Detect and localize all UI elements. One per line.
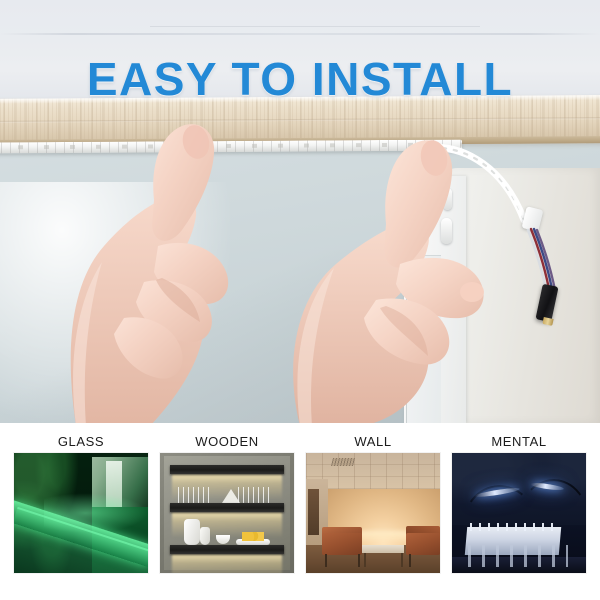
wall-table-leg-left [364, 553, 366, 567]
surface-card-wooden[interactable]: WOODEN [160, 431, 294, 600]
wall-sofa-leg-b [358, 554, 360, 567]
ceiling-seam-secondary [150, 26, 480, 27]
wall-table-leg-right [401, 553, 403, 567]
surfaces-section: GLASS WOODEN [0, 423, 600, 600]
wooden-shelf-glow-3 [172, 554, 282, 573]
wall-sofa-leg-a [325, 554, 327, 567]
surface-card-glass[interactable]: GLASS [14, 431, 148, 600]
wall-coffee-table [362, 545, 404, 553]
surface-label-glass: GLASS [14, 431, 148, 453]
surface-card-mental[interactable]: MENTAL [452, 431, 586, 600]
mental-chairs [468, 545, 568, 567]
hero-photo: EASY TO INSTALL [0, 0, 600, 423]
surface-thumb-glass[interactable] [14, 453, 148, 573]
mental-table-settings [470, 523, 558, 531]
wooden-glassware-right [238, 487, 270, 503]
surface-card-wall[interactable]: WALL [306, 431, 440, 600]
wooden-pitcher [200, 527, 210, 545]
ceiling-seam [0, 33, 600, 35]
surface-thumb-wooden[interactable] [160, 453, 294, 573]
right-hand [240, 100, 490, 423]
surface-label-mental: MENTAL [452, 431, 586, 453]
left-hand [58, 96, 268, 423]
wooden-shelf-1 [170, 465, 284, 474]
glass-green-glow [44, 493, 148, 533]
product-marketing-image: EASY TO INSTALL GLASS WOODEN [0, 0, 600, 600]
wooden-teapot [184, 519, 200, 545]
wooden-shelf-2 [170, 503, 284, 512]
surface-label-wall: WALL [306, 431, 440, 453]
wall-sofa-right [406, 533, 440, 555]
wall-ceiling-vent [331, 458, 355, 466]
wall-doorway [308, 489, 319, 535]
wooden-fruit [242, 532, 264, 541]
wall-sofa-leg-c [409, 554, 411, 567]
wooden-glassware-left [178, 487, 210, 503]
page-title: EASY TO INSTALL [0, 52, 600, 106]
wooden-cone-object [222, 489, 240, 503]
surface-thumb-mental[interactable] [452, 453, 586, 573]
wooden-shelf-3 [170, 545, 284, 554]
surface-label-wooden: WOODEN [160, 431, 294, 453]
surfaces-list: GLASS WOODEN [0, 423, 600, 600]
surface-thumb-wall[interactable] [306, 453, 440, 573]
wall-sofa-left [322, 533, 362, 555]
